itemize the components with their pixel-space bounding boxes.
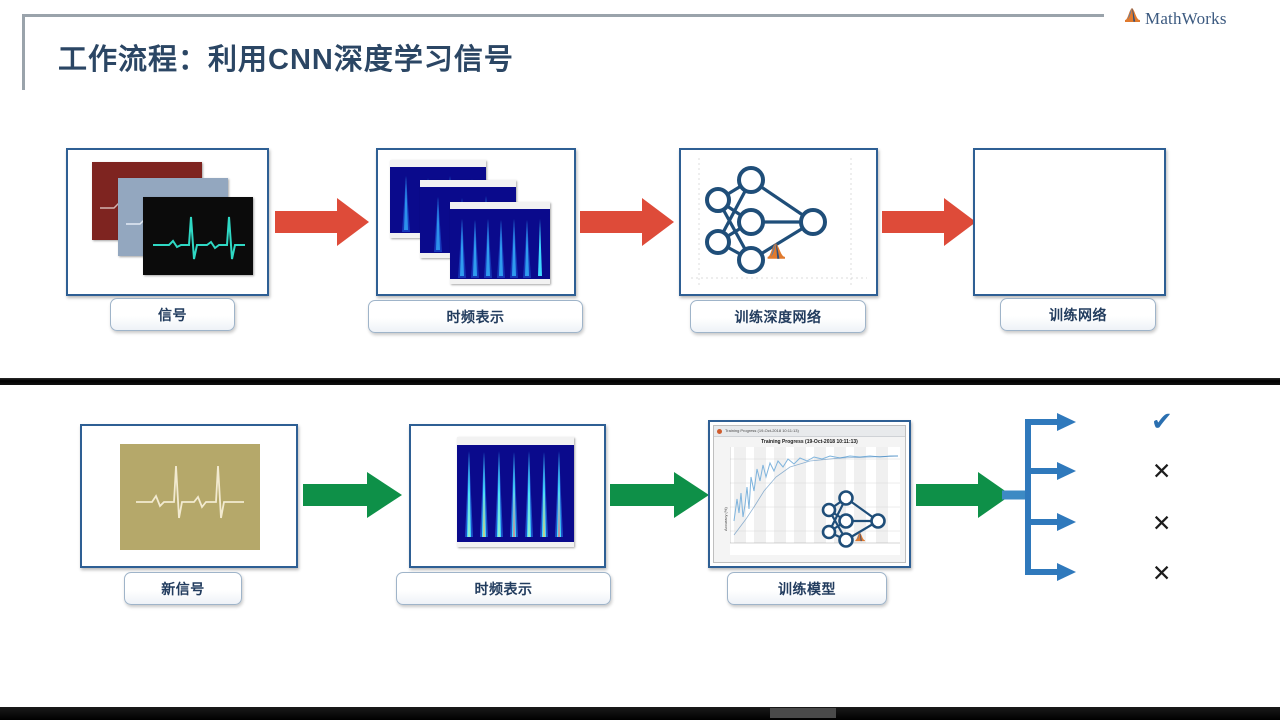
header-rule: [22, 14, 1104, 17]
new-signal-thumbnail: [120, 444, 260, 550]
bottom-bar-highlight: [770, 708, 836, 718]
label-trained-network: 训练网络: [1000, 298, 1156, 331]
mathworks-logo-text: MathWorks: [1145, 9, 1227, 29]
classification-branch-connector: [1002, 405, 1162, 605]
panel-signals[interactable]: [66, 148, 269, 296]
label-signals: 信号: [110, 298, 235, 331]
mathworks-logo: MathWorks: [1124, 6, 1227, 31]
arrow-red-2: [580, 196, 675, 248]
matlab-window-icon: [717, 429, 722, 434]
label-trained-model: 训练模型: [727, 572, 887, 605]
panel-trained-network[interactable]: [973, 148, 1166, 296]
arrow-red-3: [882, 196, 977, 248]
panel-new-signal[interactable]: [80, 424, 298, 568]
scalogram-large: [457, 437, 574, 547]
training-progress-heading: Training Progress (19-Oct-2018 10:11:13): [714, 439, 905, 445]
neural-network-diagram: [681, 150, 876, 294]
arrow-green-1: [303, 470, 403, 520]
label-time-frequency: 时频表示: [368, 300, 583, 333]
cross-mark-icon-2: ✕: [1152, 512, 1171, 535]
arrow-green-3: [916, 470, 1012, 520]
training-progress-titlebar: Training Progress (19-Oct-2018 10:11:13): [714, 426, 905, 437]
training-progress-window: Training Progress (19-Oct-2018 10:11:13)…: [713, 425, 906, 563]
panel-train-network[interactable]: [679, 148, 878, 296]
neural-network-diagram-overlay: [812, 484, 900, 558]
signal-thumbnail-black: [143, 197, 253, 275]
label-time-frequency-2: 时频表示: [396, 572, 611, 605]
training-progress-window-title: Training Progress (19-Oct-2018 10:11:13): [725, 428, 799, 433]
label-new-signal: 新信号: [124, 572, 242, 605]
scalogram-thumbnail-3: [450, 202, 550, 284]
header-rule-stub: [22, 14, 25, 90]
cross-mark-icon-1: ✕: [1152, 460, 1171, 483]
arrow-green-2: [610, 470, 710, 520]
cross-mark-icon-3: ✕: [1152, 562, 1171, 585]
arrow-red-1: [275, 196, 370, 248]
panel-time-frequency[interactable]: [376, 148, 576, 296]
check-mark-icon: ✔: [1151, 408, 1173, 434]
bottom-bar: [0, 707, 1280, 720]
panel-time-frequency-2[interactable]: [409, 424, 606, 568]
panel-trained-model[interactable]: Training Progress (19-Oct-2018 10:11:13)…: [708, 420, 911, 568]
label-train-network: 训练深度网络: [690, 300, 866, 333]
training-progress-ylabel: Accuracy (%): [723, 507, 728, 531]
mathworks-membrane-icon: [1124, 6, 1141, 31]
slide-canvas: MathWorks 工作流程：利用CNN深度学习信号 信号: [0, 0, 1280, 720]
page-title: 工作流程：利用CNN深度学习信号: [58, 36, 514, 78]
section-divider: [0, 378, 1280, 385]
